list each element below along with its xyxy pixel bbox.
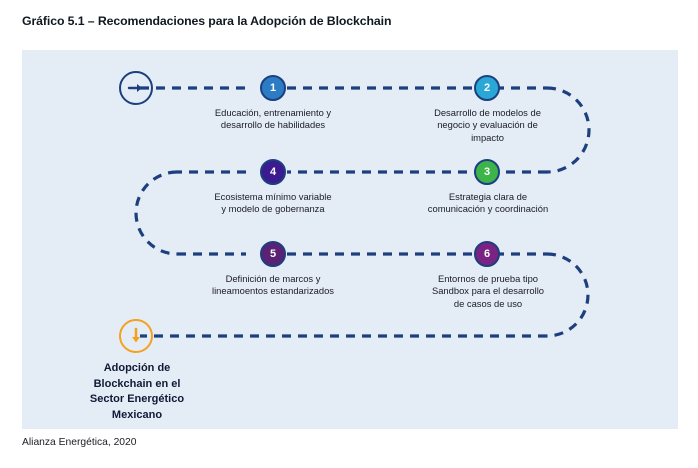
step-label-4-line-2: y modelo de gobernanza (182, 203, 364, 215)
outcome-line-3: Sector Energético (66, 392, 208, 408)
step-label-2: Desarrollo de modelos de negocio y evalu… (400, 107, 575, 144)
arrow-down-circle-icon (119, 319, 153, 353)
arrow-down-glyph (126, 326, 146, 346)
step-label-3-line-1: Estrategia clara de (398, 191, 578, 203)
outcome-line-2: Blockchain en el (66, 377, 208, 393)
step-label-5-line-2: lineamoentos estandarizados (179, 285, 367, 297)
step-label-3-line-2: comunicación y coordinación (398, 203, 578, 215)
arrow-right-glyph (126, 78, 146, 98)
step-number-4: 4 (270, 167, 276, 178)
connector-4-uturn-left (136, 172, 177, 254)
step-number-5: 5 (270, 249, 276, 260)
outcome-line-1: Adopción de (66, 361, 208, 377)
step-node-3[interactable]: 3 (474, 159, 500, 185)
step-label-6-line-3: de casos de uso (400, 298, 576, 310)
step-label-4-line-1: Ecosistema mínimo variable (182, 191, 364, 203)
step-label-5: Definición de marcos y lineamoentos esta… (179, 273, 367, 298)
step-label-6-line-1: Entornos de prueba tipo (400, 273, 576, 285)
step-node-2[interactable]: 2 (474, 75, 500, 101)
step-label-2-line-3: impacto (400, 132, 575, 144)
outcome-label: Adopción de Blockchain en el Sector Ener… (66, 361, 208, 423)
page-title: Gráfico 5.1 – Recomendaciones para la Ad… (22, 14, 391, 28)
step-label-1: Educación, entrenamiento y desarrollo de… (183, 107, 363, 132)
step-number-3: 3 (484, 167, 490, 178)
step-label-2-line-1: Desarrollo de modelos de (400, 107, 575, 119)
step-label-5-line-1: Definición de marcos y (179, 273, 367, 285)
figure-root: Gráfico 5.1 – Recomendaciones para la Ad… (0, 0, 698, 468)
step-number-2: 2 (484, 83, 490, 94)
step-node-4[interactable]: 4 (260, 159, 286, 185)
step-label-4: Ecosistema mínimo variable y modelo de g… (182, 191, 364, 216)
step-node-1[interactable]: 1 (260, 75, 286, 101)
step-number-6: 6 (484, 249, 490, 260)
diagram-panel: 1 Educación, entrenamiento y desarrollo … (22, 50, 678, 429)
source-caption: Alianza Energética, 2020 (22, 437, 137, 448)
step-label-1-line-2: desarrollo de habilidades (183, 119, 363, 131)
step-label-2-line-2: negocio y evaluación de (400, 119, 575, 131)
step-label-1-line-1: Educación, entrenamiento y (183, 107, 363, 119)
step-label-6-line-2: Sandbox para el desarrollo (400, 285, 576, 297)
step-label-6: Entornos de prueba tipo Sandbox para el … (400, 273, 576, 310)
step-number-1: 1 (270, 83, 276, 94)
step-label-3: Estrategia clara de comunicación y coord… (398, 191, 578, 216)
arrow-right-circle-icon (119, 71, 153, 105)
outcome-line-4: Mexicano (66, 408, 208, 424)
step-node-6[interactable]: 6 (474, 241, 500, 267)
step-node-5[interactable]: 5 (260, 241, 286, 267)
